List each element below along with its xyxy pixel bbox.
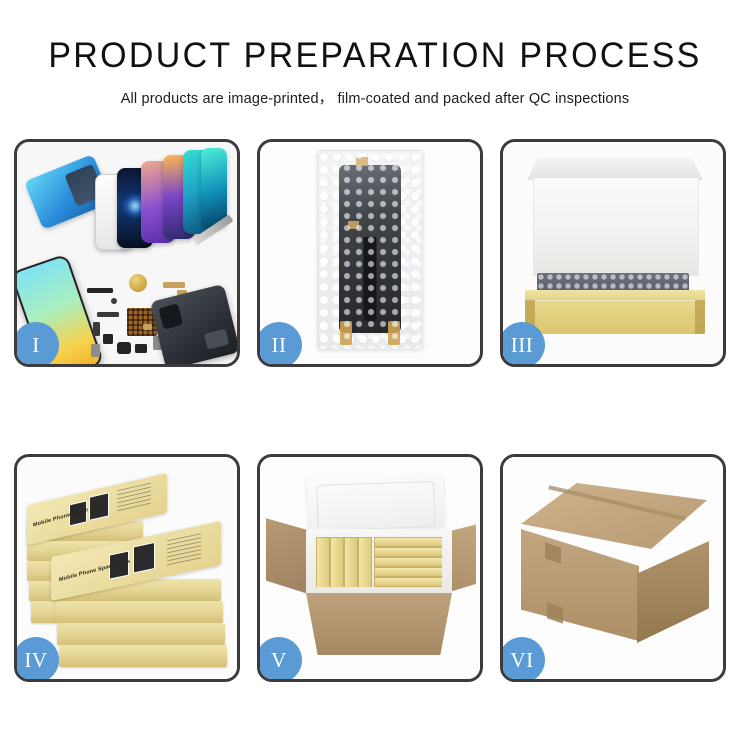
yellow-box-front <box>525 300 705 334</box>
box-stack-group: Mobile Phone Spare Parts Mobile Phone Sp… <box>23 475 233 665</box>
process-step-panel-5[interactable]: V <box>257 454 483 682</box>
step-badge-6: VI <box>500 637 545 682</box>
step-badge-1: I <box>14 322 59 367</box>
process-step-panel-3[interactable]: III <box>500 139 726 367</box>
process-step-grid: I II III <box>14 139 736 682</box>
step-badge-3: III <box>500 322 545 367</box>
step-badge-5: V <box>257 637 302 682</box>
page-header: PRODUCT PREPARATION PROCESS All products… <box>0 0 750 108</box>
process-step-panel-6[interactable]: VI <box>500 454 726 682</box>
yellow-boxes-inside <box>316 537 442 587</box>
page-subtitle: All products are image-printed， film-coa… <box>0 87 750 108</box>
process-step-panel-1[interactable]: I <box>14 139 240 367</box>
foam-sheet <box>533 178 699 276</box>
process-step-panel-2[interactable]: II <box>257 139 483 367</box>
carton-front-face <box>306 593 452 655</box>
step-badge-4: IV <box>14 637 59 682</box>
step-badge-2: II <box>257 322 302 367</box>
process-step-panel-4[interactable]: Mobile Phone Spare Parts Mobile Phone Sp… <box>14 454 240 682</box>
bubble-wrap-bag <box>317 150 423 350</box>
foam-lid-flap <box>527 158 703 180</box>
page-title: PRODUCT PREPARATION PROCESS <box>11 38 739 75</box>
